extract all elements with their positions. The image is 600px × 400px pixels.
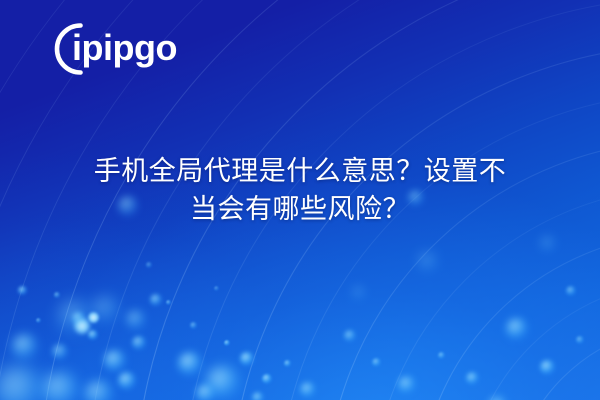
article-banner: ipipgo ipipgo 手机全局代理是什么意思？设置不 当会有哪些风险？ bbox=[0, 0, 600, 400]
banner-title: 手机全局代理是什么意思？设置不 当会有哪些风险？ bbox=[0, 152, 600, 228]
title-line-2: 当会有哪些风险？ bbox=[46, 190, 554, 228]
title-line-1: 手机全局代理是什么意思？设置不 bbox=[46, 152, 554, 190]
ipipgo-logo[interactable]: ipipgo ipipgo bbox=[28, 16, 228, 82]
logo-wordmark: ipipgo bbox=[72, 27, 177, 68]
